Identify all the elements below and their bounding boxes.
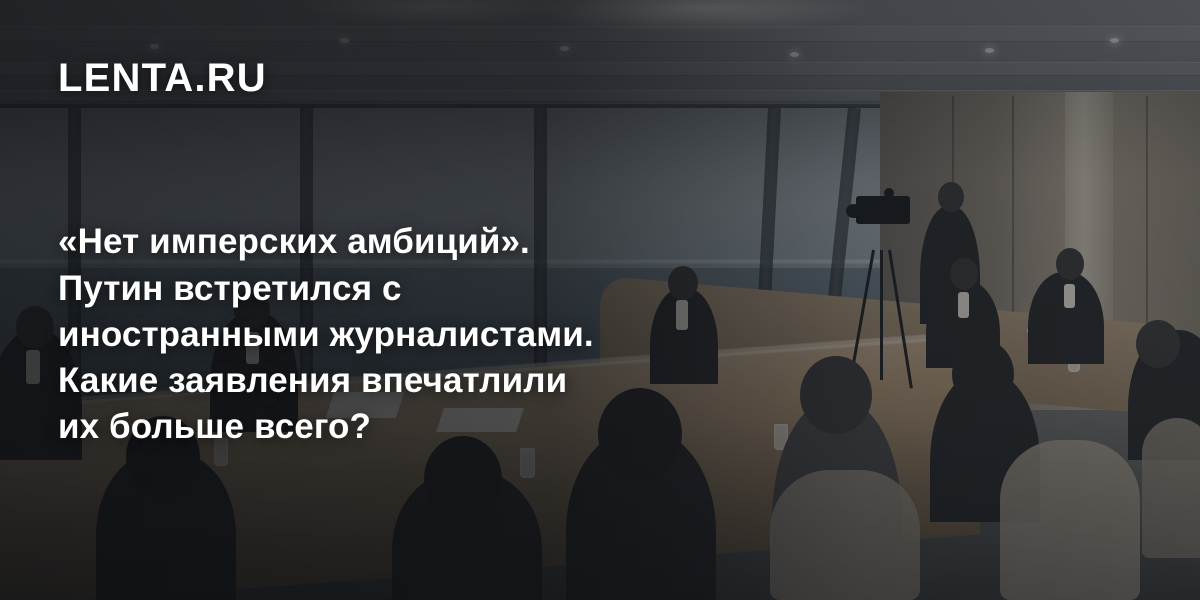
page-title: «Нет имперских амбиций». Путин встретилс… bbox=[58, 219, 778, 450]
lenta-logo-text: LENTA.RU bbox=[58, 56, 267, 100]
lenta-logo[interactable]: LENTA.RU bbox=[58, 58, 267, 98]
article-cover-image: LENTA.RU «Нет имперских амбиций». Путин … bbox=[0, 0, 1200, 600]
